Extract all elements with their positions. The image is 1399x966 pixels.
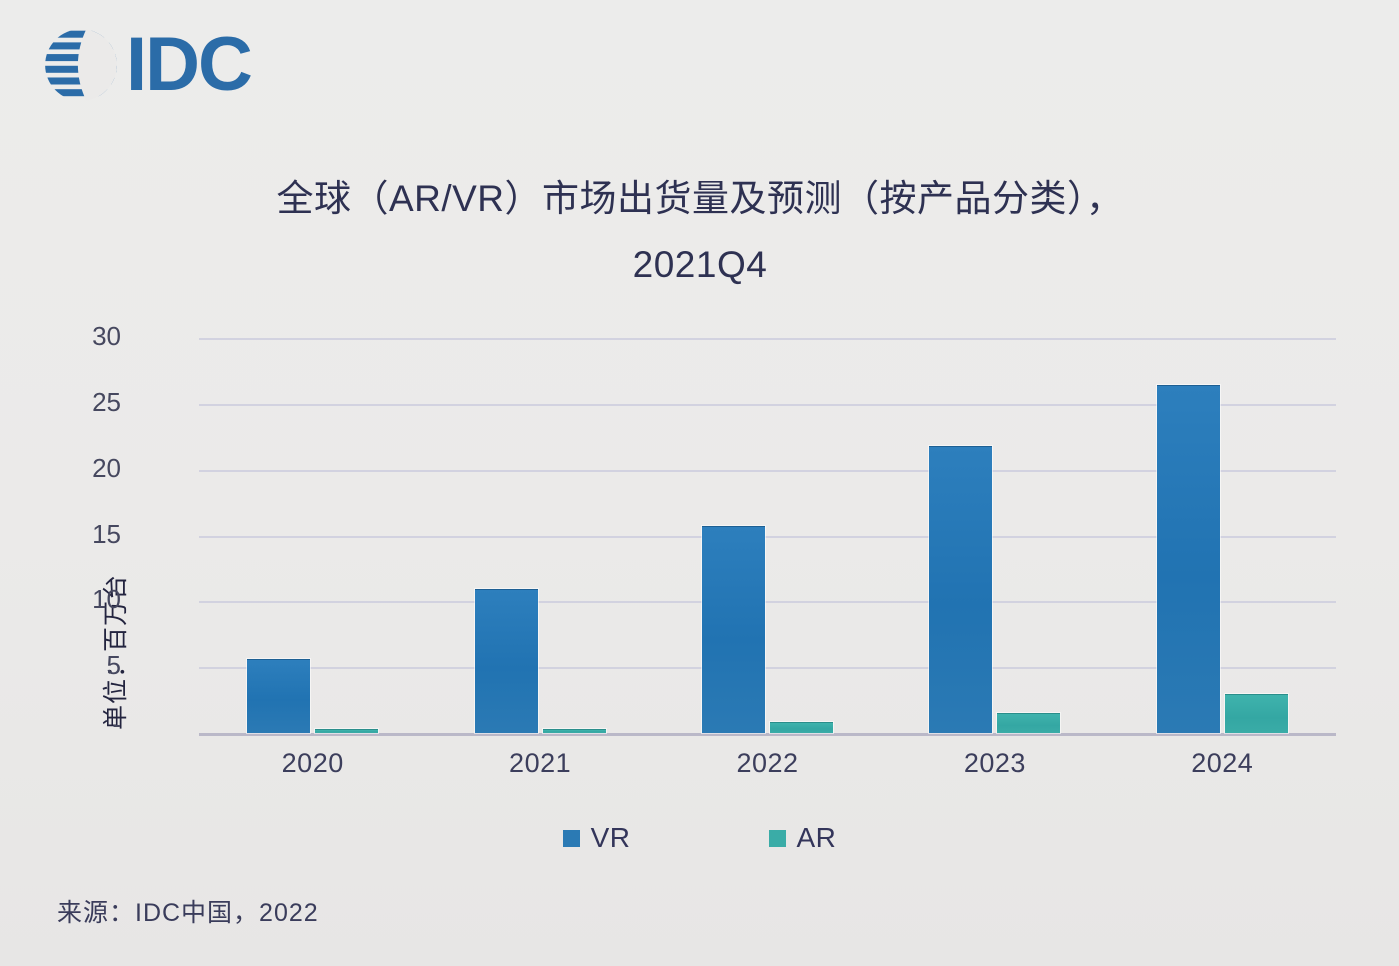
x-axis-label-2022: 2022 (654, 748, 881, 779)
bar-ar-2024[interactable] (1225, 694, 1288, 734)
bar-ar-2021[interactable] (543, 729, 606, 733)
bar-group (1109, 338, 1336, 733)
bar-ar-2022[interactable] (770, 722, 833, 733)
y-axis-tick: - (61, 709, 121, 740)
chart-title: 全球（AR/VR）市场出货量及预测（按产品分类）， 2021Q4 (170, 166, 1230, 298)
bar-vr-2022[interactable] (702, 526, 765, 733)
x-axis-label-2023: 2023 (881, 748, 1108, 779)
bar-ar-2023[interactable] (997, 713, 1060, 733)
chart-legend: VRAR (0, 822, 1399, 854)
idc-logo: IDC (42, 26, 251, 104)
bar-ar-2020[interactable] (315, 729, 378, 733)
gridline (199, 733, 1336, 736)
x-axis-label-2021: 2021 (426, 748, 653, 779)
legend-item-vr[interactable]: VR (563, 822, 631, 854)
bar-vr-2023[interactable] (929, 446, 992, 733)
legend-swatch-ar-icon (769, 830, 786, 847)
bars-layer (199, 338, 1336, 733)
logo-wordmark: IDC (126, 27, 251, 103)
bar-group (881, 338, 1108, 733)
bar-vr-2024[interactable] (1157, 385, 1220, 733)
y-axis-tick: 5 (61, 650, 121, 681)
x-axis-label-2024: 2024 (1109, 748, 1336, 779)
bar-vr-2021[interactable] (475, 589, 538, 733)
bar-group (426, 338, 653, 733)
y-axis-tick: 20 (61, 453, 121, 484)
chart-title-line1: 全球（AR/VR）市场出货量及预测（按产品分类）， (276, 178, 1123, 219)
y-axis-tick: 25 (61, 387, 121, 418)
bar-vr-2020[interactable] (247, 659, 310, 733)
y-axis-tick: 15 (61, 519, 121, 550)
chart-page: IDC 全球（AR/VR）市场出货量及预测（按产品分类）， 2021Q4 单位：… (0, 0, 1399, 966)
legend-label: AR (797, 822, 837, 854)
x-axis-label-2020: 2020 (199, 748, 426, 779)
y-axis-tick: 30 (61, 321, 121, 352)
x-axis-labels: 20202021202220232024 (199, 748, 1336, 792)
legend-item-ar[interactable]: AR (769, 822, 837, 854)
legend-swatch-vr-icon (563, 830, 580, 847)
bar-group (654, 338, 881, 733)
bar-group (199, 338, 426, 733)
globe-stripes-icon (42, 26, 120, 104)
y-axis-tick: 10 (61, 584, 121, 615)
chart-title-line2: 2021Q4 (170, 232, 1230, 298)
source-note: 来源：IDC中国，2022 (57, 893, 319, 929)
legend-label: VR (591, 822, 631, 854)
